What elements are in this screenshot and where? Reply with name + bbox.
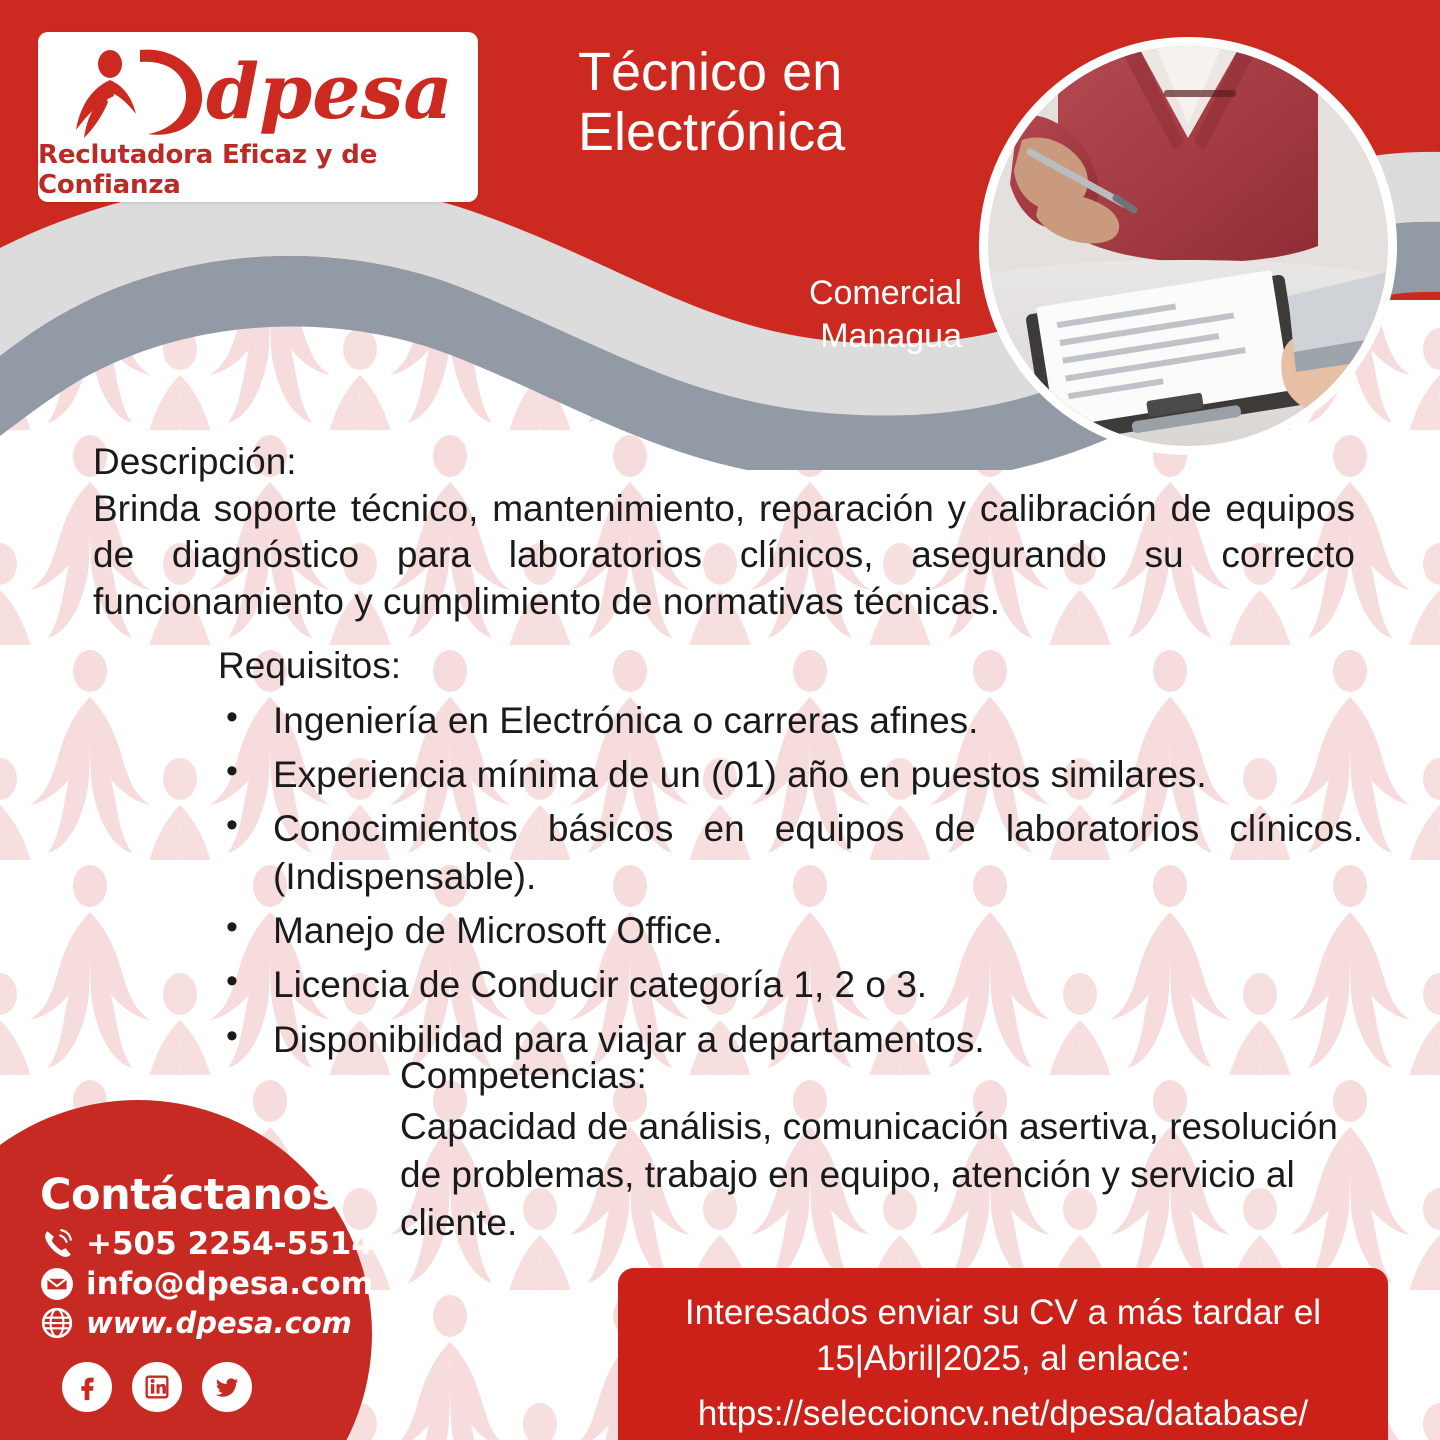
description-text: Brinda soporte técnico, mantenimiento, r…: [93, 486, 1355, 626]
contact-title: Contáctanos: [40, 1170, 370, 1220]
mail-icon: [40, 1267, 74, 1301]
dpesa-wordmark-icon: dpesa: [58, 34, 458, 144]
twitter-icon[interactable]: [202, 1362, 252, 1412]
company-logo: dpesa Reclutadora Eficaz y de Confianza: [38, 32, 478, 202]
list-item: Ingeniería en Electrónica o carreras afi…: [218, 697, 1363, 745]
requirements-list: Ingeniería en Electrónica o carreras afi…: [218, 697, 1363, 1064]
phone-icon: [40, 1227, 74, 1261]
description-block: Descripción: Brinda soporte técnico, man…: [93, 440, 1355, 625]
contact-details: Contáctanos +505 2254-5514 info@dpesa.co…: [40, 1170, 370, 1412]
list-item: Manejo de Microsoft Office.: [218, 907, 1363, 955]
cta-line-1: Interesados enviar su CV a más tardar el: [638, 1290, 1368, 1336]
contact-email-row[interactable]: info@dpesa.com: [40, 1266, 370, 1302]
requirements-block: Requisitos: Ingeniería en Electrónica o …: [218, 645, 1363, 1070]
logo-tagline: Reclutadora Eficaz y de Confianza: [38, 140, 478, 200]
contact-website: www.dpesa.com: [86, 1306, 352, 1340]
svg-text:dpesa: dpesa: [206, 47, 453, 136]
cta-line-2: 15|Abril|2025, al enlace:: [638, 1336, 1368, 1382]
requirements-label: Requisitos:: [218, 645, 1363, 687]
interview-photo: [988, 46, 1388, 446]
competencies-block: Competencias: Capacidad de análisis, com…: [400, 1055, 1350, 1247]
linkedin-icon[interactable]: [132, 1362, 182, 1412]
competencies-text: Capacidad de análisis, comunicación aser…: [400, 1103, 1350, 1247]
cta-link[interactable]: https://seleccioncv.net/dpesa/database/: [638, 1393, 1368, 1435]
competencies-label: Competencias:: [400, 1055, 1350, 1097]
job-posting-poster: dpesa Reclutadora Eficaz y de Confianza …: [0, 0, 1440, 1440]
job-location: Comercial Managua: [600, 272, 962, 357]
social-links: [62, 1362, 370, 1412]
list-item: Conocimientos básicos en equipos de labo…: [218, 805, 1363, 901]
list-item: Licencia de Conducir categoría 1, 2 o 3.: [218, 961, 1363, 1009]
contact-email: info@dpesa.com: [86, 1266, 373, 1302]
page-title: Técnico en Electrónica: [578, 42, 1018, 163]
list-item: Experiencia mínima de un (01) año en pue…: [218, 751, 1363, 799]
globe-icon: [40, 1306, 74, 1340]
cta-box[interactable]: Interesados enviar su CV a más tardar el…: [618, 1268, 1388, 1440]
description-label: Descripción:: [93, 440, 1355, 484]
contact-phone-row[interactable]: +505 2254-5514: [40, 1226, 370, 1262]
interview-photo-illustration: [988, 46, 1388, 446]
contact-website-row[interactable]: www.dpesa.com: [40, 1306, 370, 1340]
contact-phone: +505 2254-5514: [86, 1226, 373, 1262]
facebook-icon[interactable]: [62, 1362, 112, 1412]
